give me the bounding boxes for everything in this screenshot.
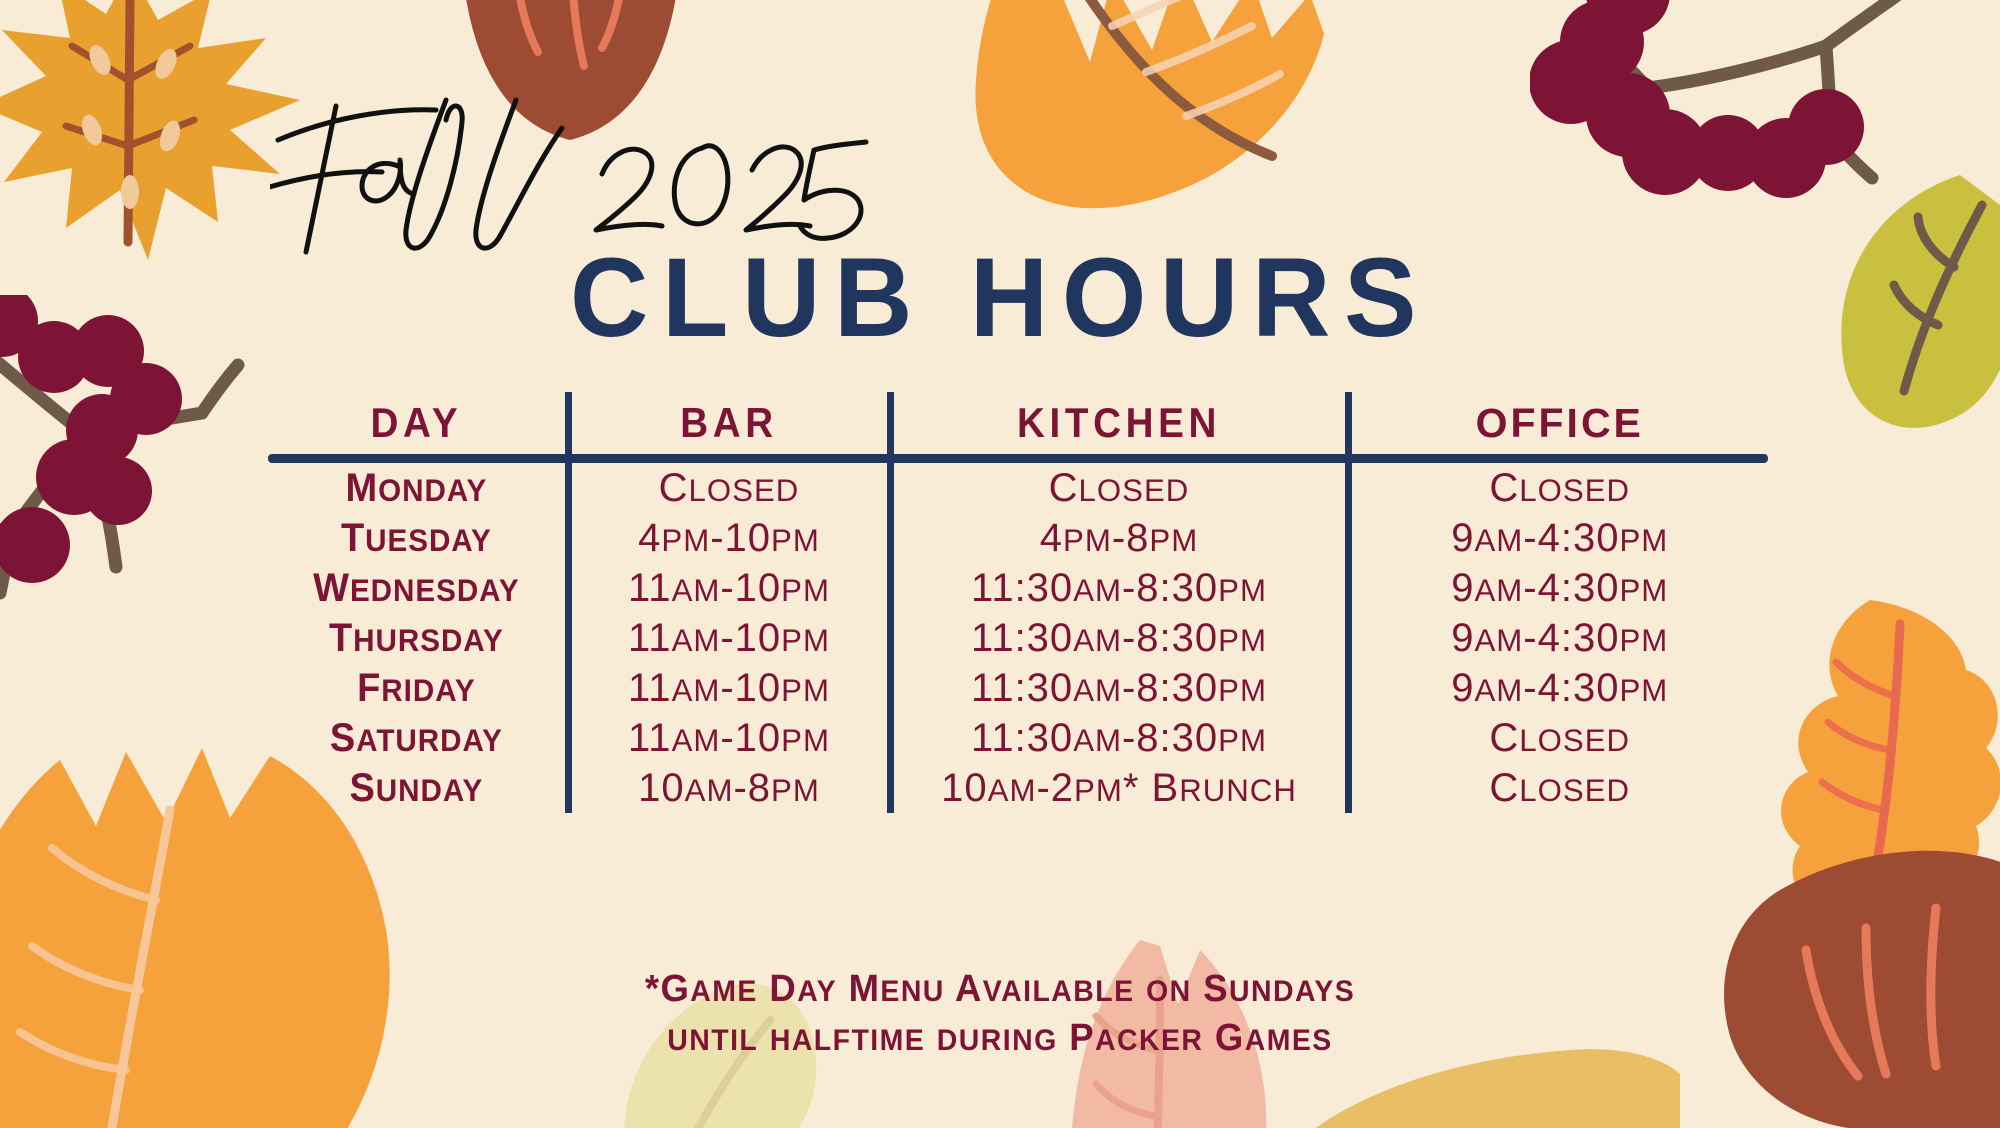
cell-bar: 11AM-10PM	[568, 613, 890, 663]
cell-office: CLOSED	[1348, 763, 1768, 813]
cell-office: CLOSED	[1348, 463, 1768, 513]
cell-kitchen: CLOSED	[890, 463, 1348, 513]
cell-day: FRIDAY	[276, 663, 561, 713]
table-row: MONDAY CLOSED CLOSED CLOSED	[268, 463, 1768, 513]
table-row: TUESDAY 4PM-10PM 4PM-8PM 9AM-4:30PM	[268, 513, 1768, 563]
table-row: SATURDAY 11AM-10PM 11:30AM-8:30PM CLOSED	[268, 713, 1768, 763]
footnote-line-2: UNTIL HALFTIME DURING PACKER GAMES	[40, 1014, 1960, 1063]
cell-bar: 11AM-10PM	[568, 563, 890, 613]
cell-kitchen: 11:30AM-8:30PM	[890, 713, 1348, 763]
maple-leaf-top-center-icon	[880, 0, 1350, 250]
table-row: SUNDAY 10AM-8PM 10AM-2PM* BRUNCH CLOSED	[268, 763, 1768, 813]
cell-office: CLOSED	[1348, 713, 1768, 763]
hours-table: DAY BAR KITCHEN OFFICE MONDAY CLOSED CLO…	[268, 392, 1768, 813]
column-header-office: OFFICE	[1348, 392, 1768, 454]
header-rule-bar	[568, 454, 890, 463]
cell-office: 9AM-4:30PM	[1348, 613, 1768, 663]
cell-bar: CLOSED	[568, 463, 890, 513]
table-row: THURSDAY 11AM-10PM 11:30AM-8:30PM 9AM-4:…	[268, 613, 1768, 663]
berry-branch-top-right-icon	[1530, 0, 2000, 270]
cell-kitchen: 4PM-8PM	[890, 513, 1348, 563]
cell-day: THURSDAY	[276, 613, 561, 663]
cell-day: TUESDAY	[276, 513, 561, 563]
cell-kitchen: 10AM-2PM* BRUNCH	[890, 763, 1348, 813]
cell-kitchen: 11:30AM-8:30PM	[890, 663, 1348, 713]
oak-leaf-right-icon	[1760, 600, 2000, 930]
cell-office: 9AM-4:30PM	[1348, 663, 1768, 713]
header-rule-row	[268, 454, 1768, 463]
table-row: FRIDAY 11AM-10PM 11:30AM-8:30PM 9AM-4:30…	[268, 663, 1768, 713]
cell-office: 9AM-4:30PM	[1348, 563, 1768, 613]
hours-table-wrapper: DAY BAR KITCHEN OFFICE MONDAY CLOSED CLO…	[268, 392, 1768, 813]
header-rule-kitchen	[890, 454, 1348, 463]
header-rule-office	[1348, 454, 1768, 463]
cell-bar: 11AM-10PM	[568, 713, 890, 763]
column-header-bar: BAR	[581, 392, 877, 454]
cell-bar: 4PM-10PM	[568, 513, 890, 563]
cell-day: SATURDAY	[276, 713, 561, 763]
column-header-day: DAY	[280, 392, 556, 454]
script-title-fall-2025: Fall 2025	[270, 70, 910, 260]
cell-day: MONDAY	[276, 463, 561, 513]
cell-bar: 11AM-10PM	[568, 663, 890, 713]
hours-table-head: DAY BAR KITCHEN OFFICE	[268, 392, 1768, 463]
club-hours-poster: Fall 2025 CLUB HOURS	[0, 0, 2000, 1128]
cell-kitchen: 11:30AM-8:30PM	[890, 563, 1348, 613]
header-rule-day	[268, 454, 568, 463]
cell-day: WEDNESDAY	[276, 563, 561, 613]
hours-table-body: MONDAY CLOSED CLOSED CLOSED TUESDAY 4PM-…	[268, 463, 1768, 813]
cell-day: SUNDAY	[276, 763, 561, 813]
table-header-row: DAY BAR KITCHEN OFFICE	[268, 392, 1768, 454]
table-row: WEDNESDAY 11AM-10PM 11:30AM-8:30PM 9AM-4…	[268, 563, 1768, 613]
cell-office: 9AM-4:30PM	[1348, 513, 1768, 563]
cell-bar: 10AM-8PM	[568, 763, 890, 813]
cell-kitchen: 11:30AM-8:30PM	[890, 613, 1348, 663]
column-header-kitchen: KITCHEN	[908, 392, 1329, 454]
footnote-line-1: *GAME DAY MENU AVAILABLE ON SUNDAYS	[40, 965, 1960, 1014]
footnote: *GAME DAY MENU AVAILABLE ON SUNDAYS UNTI…	[40, 965, 1960, 1062]
